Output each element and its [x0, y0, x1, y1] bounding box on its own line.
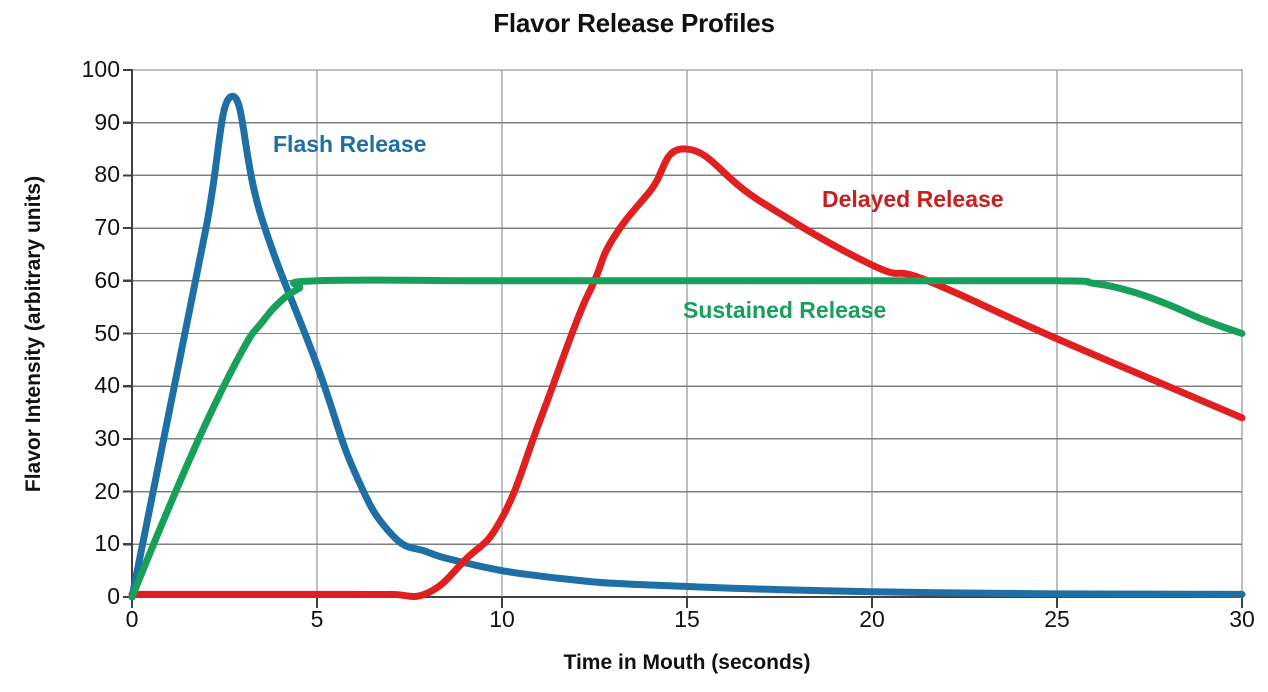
x-tick-label: 25	[1017, 608, 1097, 631]
y-tick-label: 90	[40, 111, 120, 134]
x-tick-label: 0	[92, 608, 172, 631]
x-tick-label: 30	[1202, 608, 1268, 631]
x-tick-label: 20	[832, 608, 912, 631]
y-tick-label: 0	[40, 585, 120, 608]
series-label-delayed-release: Delayed Release	[822, 186, 1004, 213]
y-tick-label: 30	[40, 427, 120, 450]
y-tick-label: 20	[40, 480, 120, 503]
y-tick-label: 70	[40, 216, 120, 239]
y-tick-label: 50	[40, 322, 120, 345]
y-tick-label: 40	[40, 374, 120, 397]
y-tick-label: 100	[40, 58, 120, 81]
y-tick-label: 80	[40, 163, 120, 186]
plot-area	[0, 0, 1268, 692]
x-tick-label: 5	[277, 608, 357, 631]
series-label-sustained-release: Sustained Release	[683, 297, 886, 324]
series-label-flash-release: Flash Release	[273, 131, 426, 158]
x-tick-label: 15	[647, 608, 727, 631]
flavor-release-chart: Flavor Release Profiles Flavor Intensity…	[0, 0, 1268, 692]
y-tick-label: 10	[40, 532, 120, 555]
y-tick-label: 60	[40, 269, 120, 292]
x-tick-label: 10	[462, 608, 542, 631]
